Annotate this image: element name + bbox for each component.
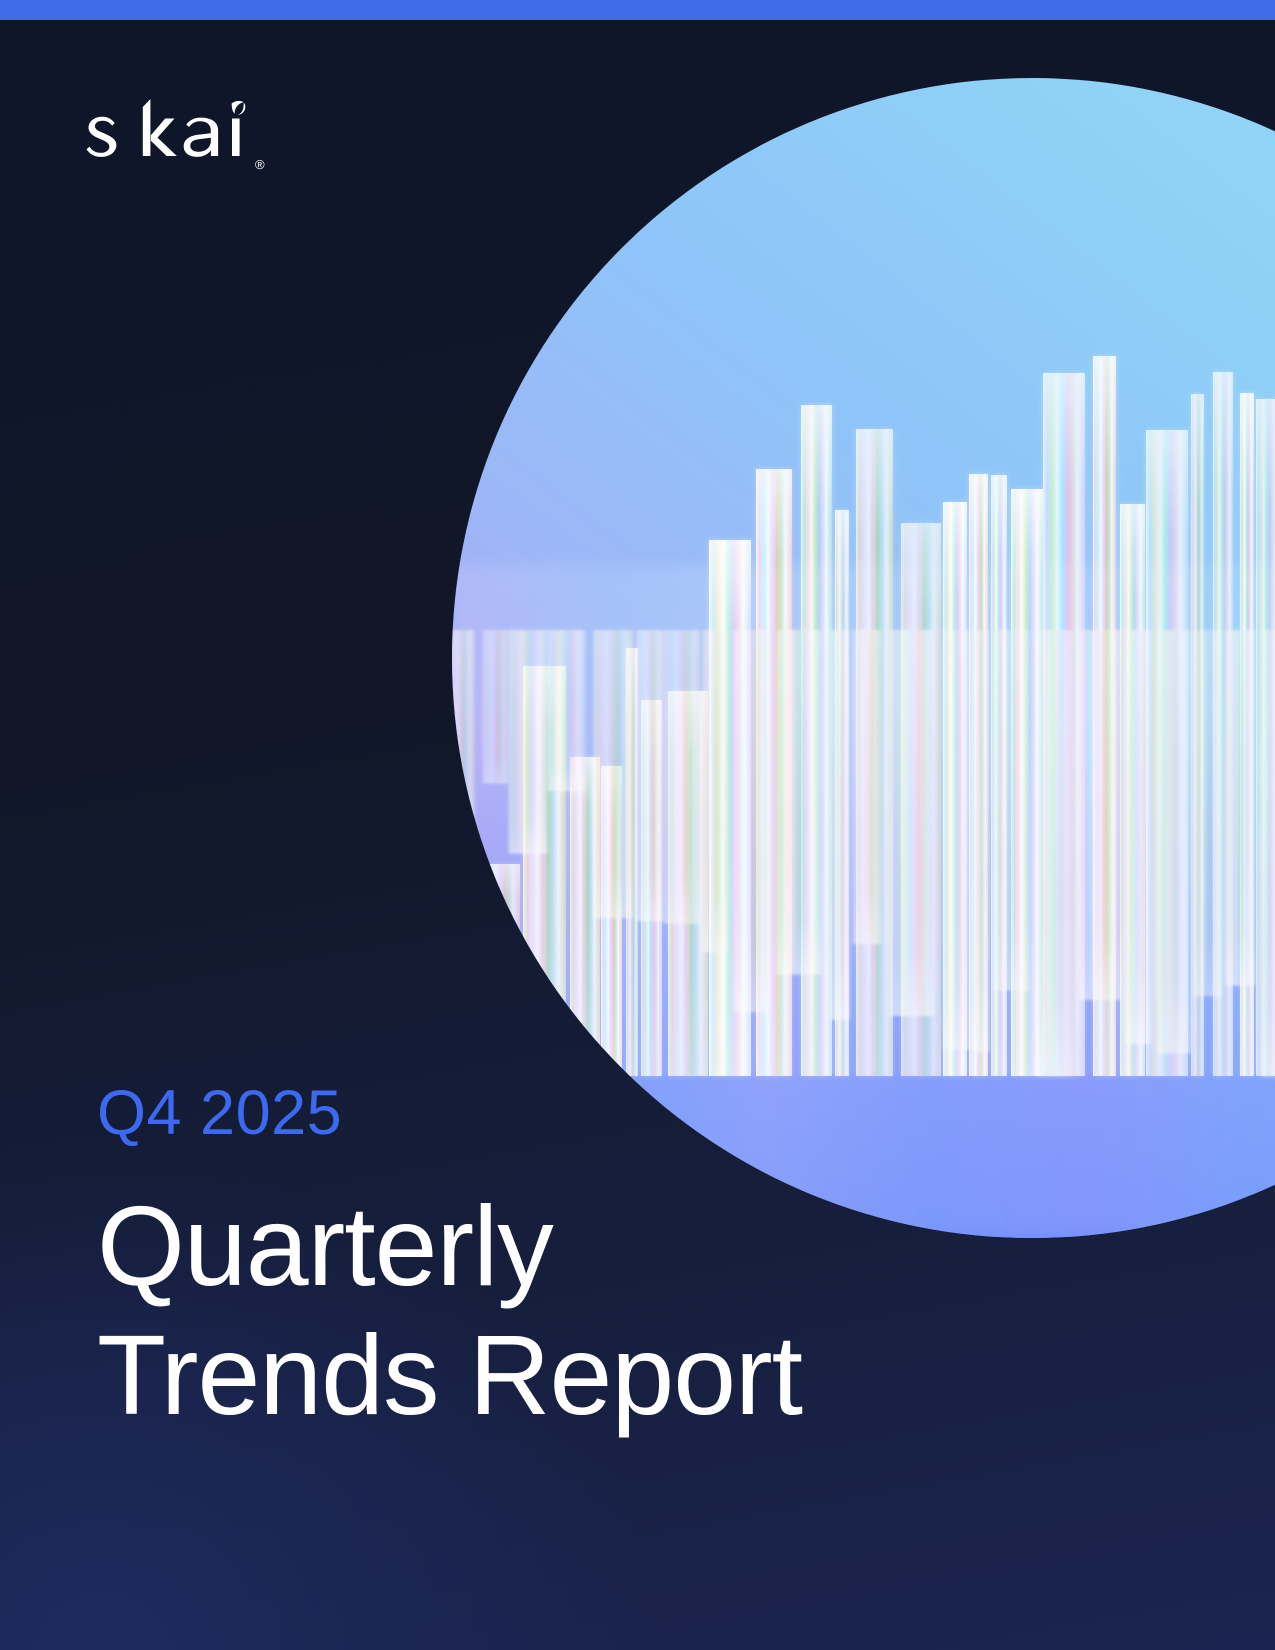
top-accent-bar <box>0 0 1275 20</box>
registered-trademark-icon: ® <box>255 158 265 171</box>
skai-wordmark-icon <box>80 95 252 175</box>
page-title: Quarterly Trends Report <box>97 1182 1057 1440</box>
hero-circle-image <box>452 78 1275 1238</box>
skai-logo: ® <box>80 95 265 175</box>
crystal-bar-reflection <box>452 630 1275 1076</box>
page-title-line-2: Trends Report <box>97 1311 1057 1440</box>
report-period-label: Q4 2025 <box>97 1080 1057 1146</box>
report-cover-page: ® Q4 2025 Quarterly Trends Report <box>0 0 1275 1650</box>
cover-title-block: Q4 2025 Quarterly Trends Report <box>97 1080 1057 1440</box>
page-title-line-1: Quarterly <box>97 1182 1057 1311</box>
